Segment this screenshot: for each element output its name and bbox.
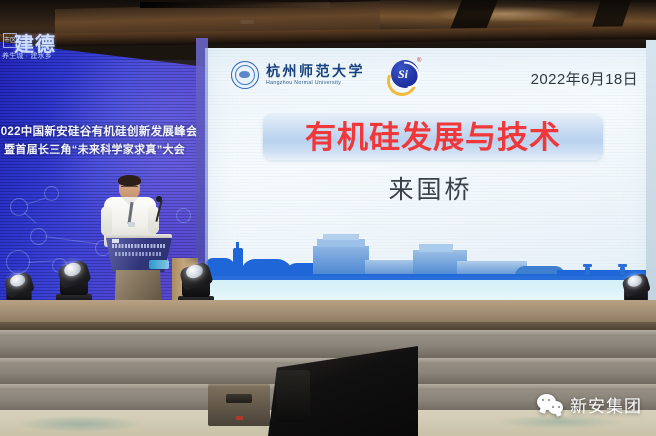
presentation-date: 2022年6月18日 — [531, 68, 638, 89]
speaker-glasses-icon — [121, 186, 138, 191]
skyline-building — [313, 246, 369, 276]
jiande-city-logo: 市区 建德 养生城 · 建水乡 — [2, 24, 64, 64]
microphone-icon — [156, 196, 162, 202]
skyline-building-roof — [317, 239, 365, 247]
wechat-watermark: 新安集团 — [537, 392, 642, 417]
moving-head-light — [56, 258, 92, 302]
projection-screen: 杭州师范大学 Hangzhou Normal University Si ® 2… — [205, 48, 656, 300]
jiande-logo-subtitle: 养生城 · 建水乡 — [2, 51, 52, 61]
stage-step-tread — [0, 330, 656, 336]
skyline-building — [419, 244, 453, 252]
event-banner-text: 2022中国新安硅谷有机硅创新发展峰会 暨首届长三角“未来科学家求真”大会 — [0, 124, 204, 159]
conference-photo: 市区 建德 养生城 · 建水乡 2022中国新安硅谷有机硅创新发展峰会 暨首届长… — [0, 0, 656, 436]
ceiling-dark-strip — [140, 2, 330, 8]
skyline-building-roof-2 — [323, 234, 359, 240]
skyline-pagoda-top — [236, 242, 239, 249]
speaker-name: 来国桥 — [205, 170, 656, 206]
display-panel-cables — [276, 370, 310, 422]
speaker-badge — [128, 222, 135, 227]
stage-deck — [0, 300, 656, 324]
wechat-bubble-small — [548, 401, 563, 414]
monitor-led-indicator — [236, 416, 243, 420]
wechat-icon — [537, 394, 563, 415]
right-wall — [646, 40, 656, 302]
hangzhou-skyline-graphic — [205, 222, 656, 300]
si-brand-icon: Si ® — [387, 58, 421, 92]
university-name-en: Hangzhou Normal University — [266, 81, 365, 87]
university-name-cn: 杭州师范大学 — [266, 64, 365, 79]
university-seal-icon — [231, 61, 259, 89]
speaker-hair — [118, 175, 141, 186]
speaker-left-arm — [101, 206, 112, 236]
ceiling-light-glow — [430, 6, 580, 22]
lakeside-lantern-icon — [583, 264, 592, 278]
university-name-block: 杭州师范大学 Hangzhou Normal University — [266, 64, 365, 87]
ceiling — [0, 0, 656, 46]
slide-title: 有机硅发展与技术 — [305, 122, 561, 153]
banner-line-1: 2022中国新安硅谷有机硅创新发展峰会 — [0, 124, 204, 142]
registered-mark: ® — [417, 58, 421, 64]
moving-head-light — [178, 260, 214, 304]
university-logo: 杭州师范大学 Hangzhou Normal University — [231, 61, 365, 89]
stage-monitor-speaker — [208, 386, 270, 426]
monitor-handle-icon — [226, 394, 252, 403]
stage-front-edge — [0, 322, 656, 330]
si-logo-letters: Si — [398, 67, 408, 82]
podium-sheen — [106, 238, 172, 272]
wechat-account-name: 新安集团 — [570, 392, 642, 417]
slide-title-band: 有机硅发展与技术 — [263, 114, 603, 160]
ceiling-fixture-icon — [240, 20, 254, 24]
banner-line-2: 暨首届长三角“未来科学家求真”大会 — [0, 142, 204, 159]
